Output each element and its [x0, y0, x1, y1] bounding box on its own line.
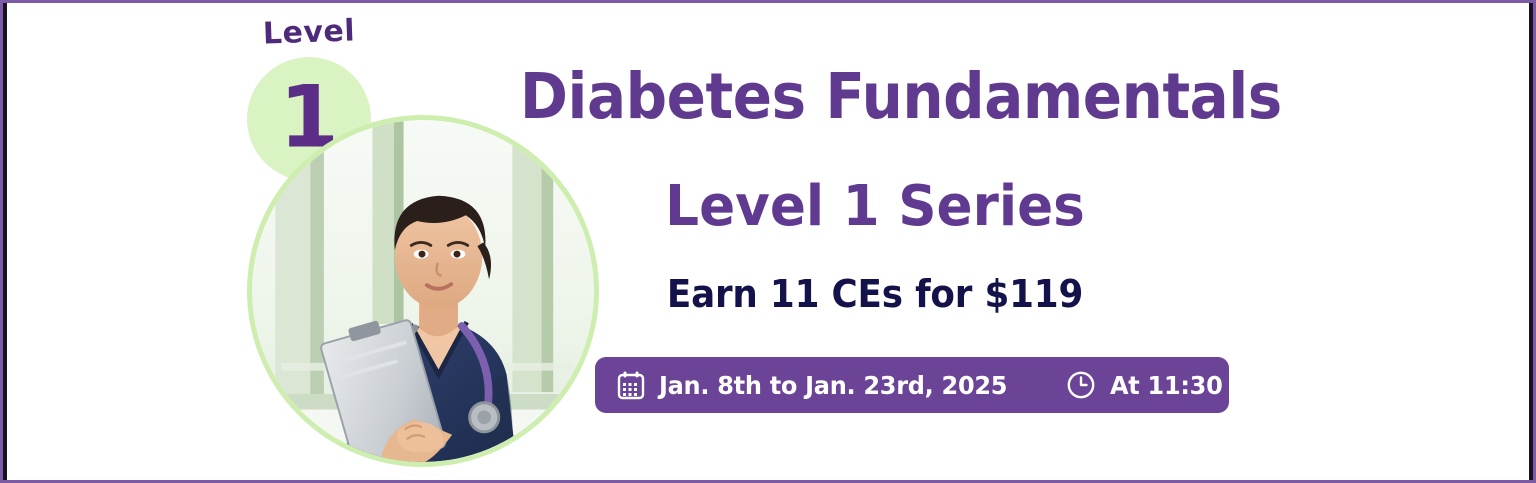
schedule-dates-text: Jan. 8th to Jan. 23rd, 2025: [659, 371, 1007, 400]
calendar-icon: [617, 370, 645, 400]
page-title: Diabetes Fundamentals: [520, 61, 1230, 133]
schedule-bar: Jan. 8th to Jan. 23rd, 2025 At 11:30 AM: [595, 357, 1229, 413]
clock-icon: [1066, 370, 1096, 400]
level-badge-label: Level: [262, 13, 355, 51]
schedule-dates-group: Jan. 8th to Jan. 23rd, 2025: [617, 370, 1022, 400]
page-subtitle: Level 1 Series: [508, 175, 1241, 239]
schedule-time-group: At 11:30 AM: [1066, 370, 1279, 400]
schedule-time-text: At 11:30 AM: [1110, 371, 1272, 400]
course-promo-banner: Level 1: [0, 0, 1536, 483]
offer-price-line: Earn 11 CEs for $119: [512, 271, 1238, 317]
